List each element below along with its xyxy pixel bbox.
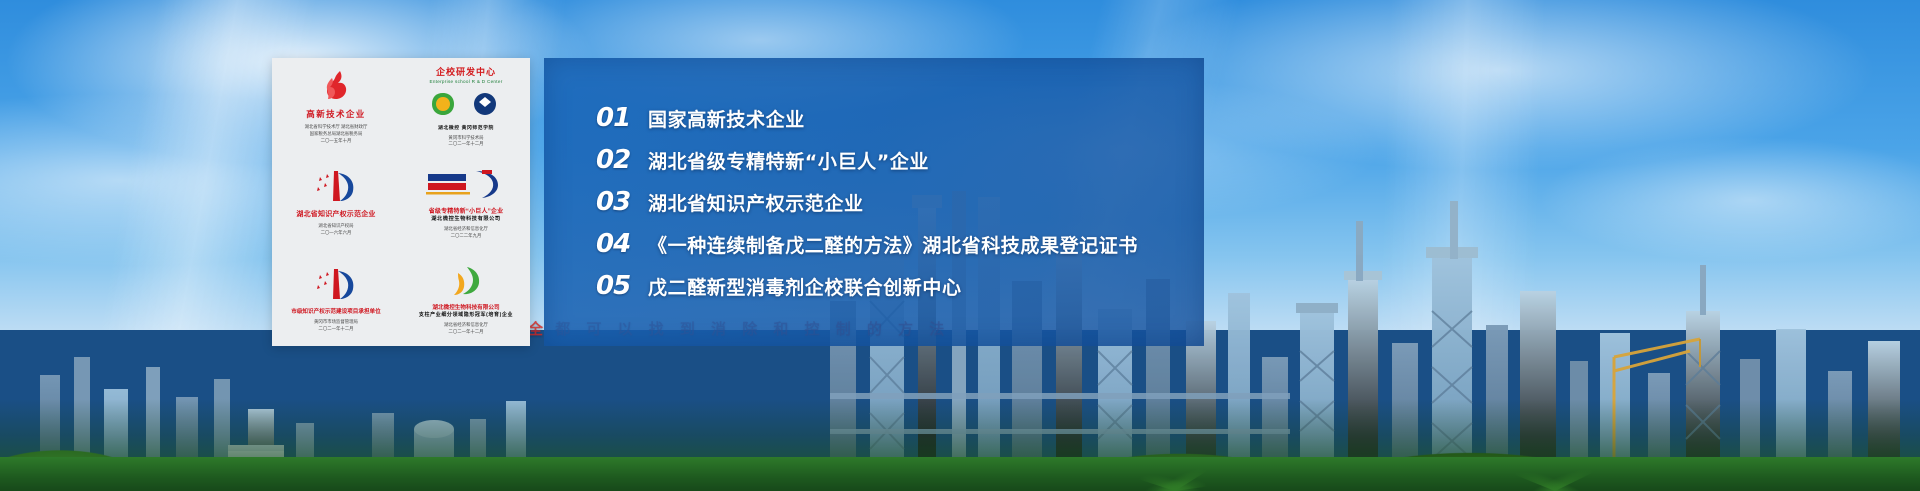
certificate-issuer: 湖北省经济和信息化厅 二〇二二年九月: [444, 226, 488, 240]
highlights-list: 01 国家高新技术企业 02 湖北省级专精特新“小巨人”企业 03 湖北省知识产…: [596, 58, 1216, 346]
certificate-title: 湖北省知识产权示范企业: [296, 209, 375, 219]
certificate-org: 湖北微控生物科技有限公司: [431, 215, 500, 222]
highlight-number: 02: [596, 145, 648, 175]
highlight-row: 03 湖北省知识产权示范企业: [596, 187, 1216, 217]
highlight-row: 02 湖北省级专精特新“小巨人”企业: [596, 145, 1216, 175]
zhuanjing-logo: [424, 164, 508, 204]
lawn-strip: [0, 457, 1920, 491]
highlight-text: 湖北省知识产权示范企业: [648, 189, 864, 216]
highlight-number: 05: [596, 271, 648, 301]
certificate-issuer: 湖北省经济和信息化厅 二〇二一年十二月: [444, 322, 488, 336]
ip-star-logo: [314, 265, 358, 305]
certificate-title: 企校研发中心: [436, 65, 496, 78]
highlight-text: 国家高新技术企业: [648, 105, 805, 132]
certificate-issuer: 黄冈市市场监督管理局 二〇二一年十二月: [314, 319, 358, 333]
highlight-text: 戊二醛新型消毒剂企校联合创新中心: [648, 273, 962, 300]
highlight-row: 04 《一种连续制备戊二醛的方法》湖北省科技成果登记证书: [596, 229, 1216, 259]
highlight-row: 01 国家高新技术企业: [596, 103, 1216, 133]
certificate-item[interactable]: 湖北省知识产权示范企业 湖北省知识产权局 二〇一六年六月: [272, 155, 400, 250]
highlight-text: 《一种连续制备戊二醛的方法》湖北省科技成果登记证书: [648, 231, 1138, 258]
highlight-text: 湖北省级专精特新“小巨人”企业: [648, 147, 929, 174]
certificate-org: 支柱产业细分领域隐形冠军(培育)企业: [419, 311, 513, 318]
ip-star-logo: [314, 167, 358, 207]
highlight-number: 01: [596, 103, 648, 133]
certificate-title: 市级知识产权示范建设项目承担单位: [291, 307, 381, 315]
certificate-issuer: 湖北省科学技术厅 湖北省财政厅 国家税务总局湖北省税务局 二〇一五年十月: [305, 124, 368, 144]
banner-hero: 全 都 可 以 找 到 消 除 和 控 制 的 方 法 高新技术企业 湖北省科学…: [0, 0, 1920, 491]
strapline-prefix: 全: [528, 321, 545, 338]
certificate-org: 湖北微控 黄冈师范学院: [438, 124, 494, 131]
certificate-item[interactable]: 湖北微控生物科技有限公司 支柱产业细分领域隐形冠军(培育)企业 湖北省经济和信息…: [402, 251, 530, 346]
certificate-grid: 高新技术企业 湖北省科学技术厅 湖北省财政厅 国家税务总局湖北省税务局 二〇一五…: [272, 58, 530, 346]
flame-logo: [319, 66, 353, 106]
certificate-title: 高新技术企业: [306, 108, 365, 120]
certificate-item[interactable]: 高新技术企业 湖北省科学技术厅 湖北省财政厅 国家税务总局湖北省税务局 二〇一五…: [272, 58, 400, 153]
school-rd-logo: [429, 84, 503, 124]
highlight-number: 03: [596, 187, 648, 217]
highlights-panel: 01 国家高新技术企业 02 湖北省级专精特新“小巨人”企业 03 湖北省知识产…: [544, 58, 1204, 346]
certificate-item[interactable]: 市级知识产权示范建设项目承担单位 黄冈市市场监督管理局 二〇二一年十二月: [272, 251, 400, 346]
certificate-title: 湖北微控生物科技有限公司: [432, 303, 499, 311]
highlight-number: 04: [596, 229, 648, 259]
certificate-item[interactable]: 企校研发中心 Enterprise school R & D Center 湖北…: [402, 58, 530, 153]
certificate-title: 省级专精特新“小巨人”企业: [429, 206, 504, 215]
certificate-item[interactable]: 省级专精特新“小巨人”企业 湖北微控生物科技有限公司 湖北省经济和信息化厅 二〇…: [402, 155, 530, 250]
certificate-issuer: 湖北省知识产权局 二〇一六年六月: [318, 223, 353, 237]
highlight-row: 05 戊二醛新型消毒剂企校联合创新中心: [596, 271, 1216, 301]
green-leaf-logo: [449, 261, 483, 301]
certificate-issuer: 黄冈市科学技术局 二〇二一年十二月: [448, 135, 483, 149]
